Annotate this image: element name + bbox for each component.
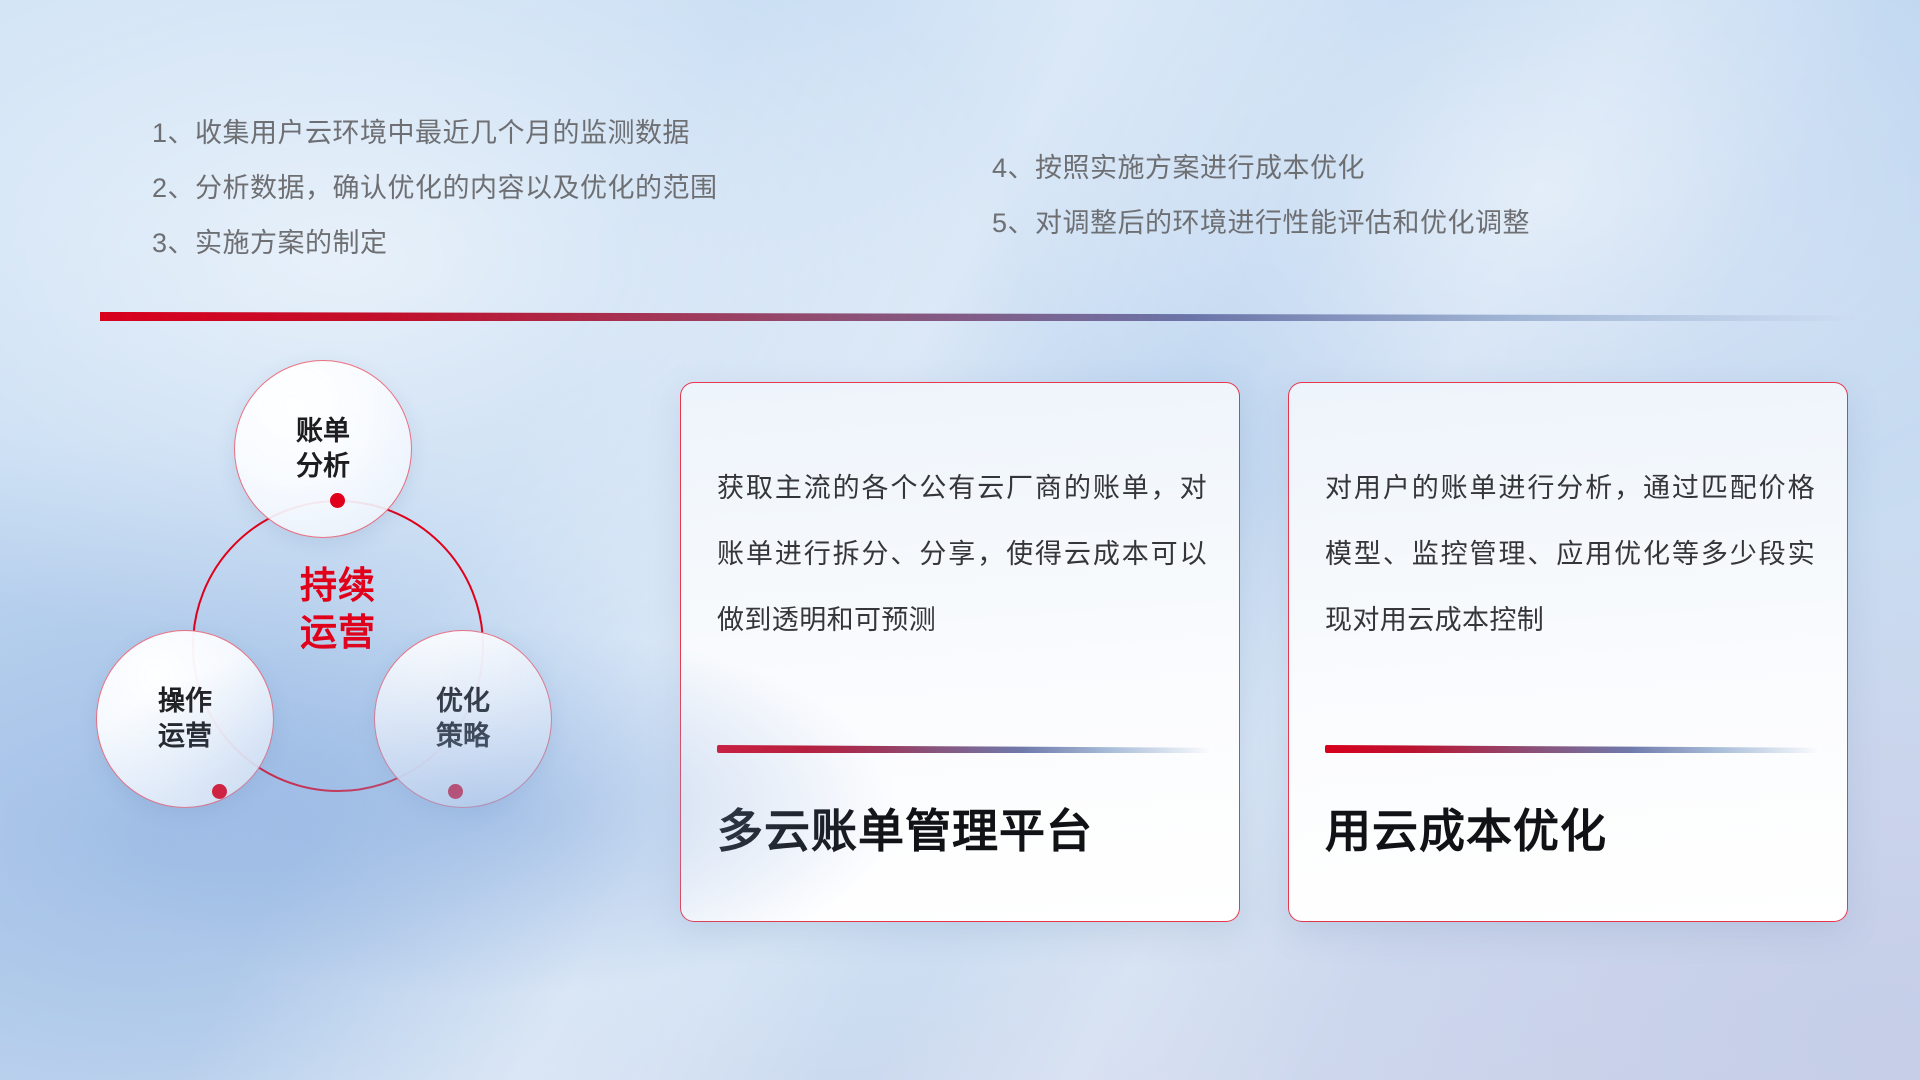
card-gradient-rule bbox=[717, 745, 1209, 753]
center-label-line1: 持续 bbox=[192, 562, 484, 609]
step-item: 5、对调整后的环境进行性能评估和优化调整 bbox=[992, 210, 1530, 237]
venn-diagram: 持续 运营 账单 分析 操作 运营 优化 策略 bbox=[96, 352, 636, 952]
bubble-label-line2: 运营 bbox=[158, 719, 212, 754]
bubble-label-line2: 分析 bbox=[296, 449, 350, 484]
bubble-label-line1: 优化 bbox=[436, 684, 490, 719]
card-body-text: 对用户的账单进行分析，通过匹配价格模型、监控管理、应用优化等多少段实现对用云成本… bbox=[1325, 455, 1815, 653]
bubble-label-line1: 账单 bbox=[296, 414, 350, 449]
step-item: 3、实施方案的制定 bbox=[152, 230, 718, 257]
steps-right-column: 4、按照实施方案进行成本优化 5、对调整后的环境进行性能评估和优化调整 bbox=[992, 155, 1530, 237]
venn-bubble-operations[interactable]: 操作 运营 bbox=[96, 630, 274, 808]
connector-dot-right bbox=[448, 784, 463, 799]
card-title: 多云账单管理平台 bbox=[717, 803, 1207, 861]
steps-left-column: 1、收集用户云环境中最近几个月的监测数据 2、分析数据，确认优化的内容以及优化的… bbox=[152, 120, 718, 257]
gradient-divider bbox=[100, 312, 1858, 321]
venn-bubble-optimization-strategy[interactable]: 优化 策略 bbox=[374, 630, 552, 808]
venn-bubble-billing-analysis[interactable]: 账单 分析 bbox=[234, 360, 412, 538]
bubble-label-line1: 操作 bbox=[158, 684, 212, 719]
card-multicloud-billing-platform[interactable]: 获取主流的各个公有云厂商的账单，对账单进行拆分、分享，使得云成本可以做到透明和可… bbox=[680, 382, 1240, 922]
card-cloud-cost-optimization[interactable]: 对用户的账单进行分析，通过匹配价格模型、监控管理、应用优化等多少段实现对用云成本… bbox=[1288, 382, 1848, 922]
divider-wedge bbox=[100, 312, 1858, 321]
connector-dot-left bbox=[212, 784, 227, 799]
step-item: 2、分析数据，确认优化的内容以及优化的范围 bbox=[152, 175, 718, 202]
step-item: 1、收集用户云环境中最近几个月的监测数据 bbox=[152, 120, 718, 147]
card-body-text: 获取主流的各个公有云厂商的账单，对账单进行拆分、分享，使得云成本可以做到透明和可… bbox=[717, 455, 1207, 653]
bubble-label-line2: 策略 bbox=[436, 719, 490, 754]
card-title: 用云成本优化 bbox=[1325, 803, 1815, 861]
slide-canvas: 1、收集用户云环境中最近几个月的监测数据 2、分析数据，确认优化的内容以及优化的… bbox=[0, 0, 1920, 1080]
card-gradient-rule bbox=[1325, 745, 1817, 753]
step-item: 4、按照实施方案进行成本优化 bbox=[992, 155, 1530, 182]
connector-dot-top bbox=[330, 493, 345, 508]
